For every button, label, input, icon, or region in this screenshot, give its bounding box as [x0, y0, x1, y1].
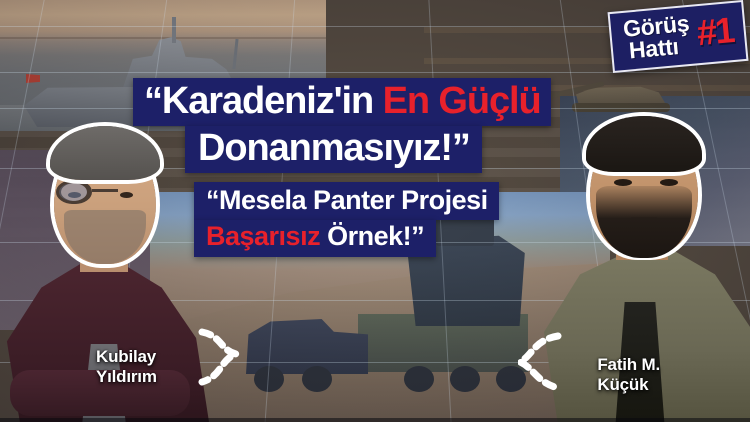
- quote-two-text-plain: Örnek!”: [327, 221, 424, 251]
- quote-one-line-two: Donanmasıyız!”: [185, 126, 482, 174]
- name-left-line-2: Yıldırım: [96, 367, 157, 386]
- right-person-eye: [614, 179, 632, 186]
- name-right-line-2: Küçük: [597, 375, 660, 394]
- bottom-edge: [0, 418, 750, 422]
- video-thumbnail: Görüş Hattı #1 “Karadeniz'in En Güçlü Do…: [0, 0, 750, 422]
- left-person-hair: [50, 126, 160, 180]
- ranking-badge[interactable]: Görüş Hattı #1: [607, 0, 748, 73]
- dotted-arc-icon: [518, 328, 564, 394]
- quote-two-text-accent: Başarısız: [206, 221, 327, 251]
- right-person-beard: [596, 186, 692, 258]
- name-label-left: Kubilay Yıldırım: [96, 347, 157, 386]
- quote-two-line-two: Başarısız Örnek!”: [194, 220, 436, 257]
- badge-line-2: Hattı: [624, 34, 692, 62]
- badge-title: Görüş Hattı: [622, 12, 692, 62]
- eyeglasses-icon: [56, 180, 154, 204]
- quote-two-line-one: “Mesela Panter Projesi: [194, 182, 499, 220]
- quote-one-text-accent: En Güçlü: [383, 80, 541, 122]
- right-person-eye: [660, 179, 678, 186]
- right-person-hair: [586, 116, 702, 172]
- curly-brace-icon: [196, 326, 242, 388]
- name-label-right: Fatih M. Küçük: [597, 355, 660, 394]
- name-left-line-1: Kubilay: [96, 347, 157, 366]
- badge-rank: #1: [695, 12, 734, 51]
- name-right-line-1: Fatih M.: [597, 355, 660, 374]
